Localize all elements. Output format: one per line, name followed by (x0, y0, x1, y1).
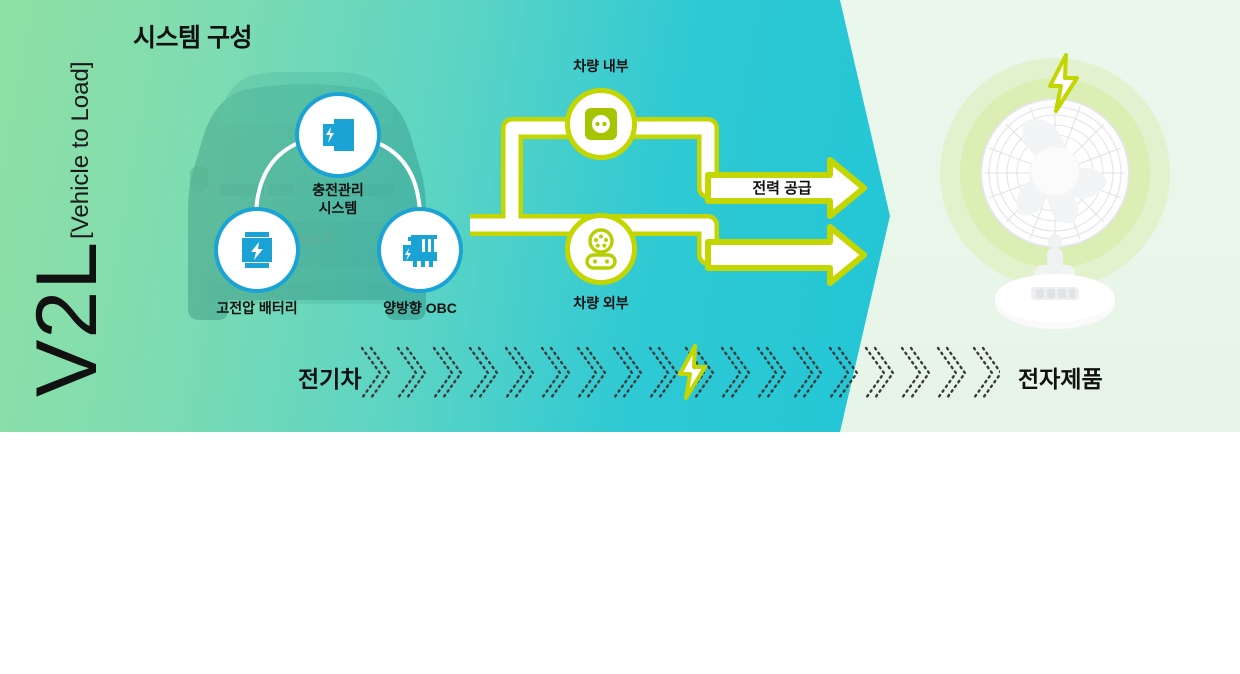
lightning-bolt-fan-icon (1043, 52, 1083, 114)
node-charge-management-system[interactable] (295, 92, 381, 178)
operation-sequence-section: 동작 순서 1 실내/외 콘센트 체결 인식 2 V2L 동작 허용 조건 확인… (0, 436, 1240, 546)
lightning-bolt-band-icon (675, 344, 709, 400)
band-label-device: 전자제품 (1018, 360, 1103, 394)
page-title: 시스템 구성 (133, 18, 252, 54)
battery-icon (236, 228, 278, 272)
label-bidirectional-obc: 양방향 OBC (345, 300, 495, 318)
label-vehicle-interior: 차량 내부 (535, 58, 667, 76)
infographic-root: V2L [Vehicle to Load] 시스템 구성 IONIQ 5 (0, 0, 1240, 674)
development-content-section: 주요 개발 내용 다양한 전기 부하를 고려한 AC 전압 및 주파수 제어 다… (0, 578, 1240, 674)
node-bidirectional-obc[interactable] (377, 207, 463, 293)
indoor-socket-icon (582, 105, 620, 143)
outdoor-socket-icon (581, 228, 621, 270)
obc-chip-icon (397, 228, 443, 272)
charge-controller-icon (316, 113, 360, 157)
node-vehicle-exterior[interactable] (565, 213, 637, 285)
supply-label: 전력 공급 (722, 177, 842, 198)
label-vehicle-exterior: 차량 외부 (535, 295, 667, 313)
node-high-voltage-battery[interactable] (214, 207, 300, 293)
v2l-subtitle: [Vehicle to Load] (67, 62, 107, 239)
label-high-voltage-battery: 고전압 배터리 (180, 300, 334, 318)
band-label-ev: 전기차 (298, 360, 361, 394)
hero-panel: V2L [Vehicle to Load] 시스템 구성 IONIQ 5 (0, 0, 1240, 432)
node-vehicle-interior[interactable] (565, 88, 637, 160)
